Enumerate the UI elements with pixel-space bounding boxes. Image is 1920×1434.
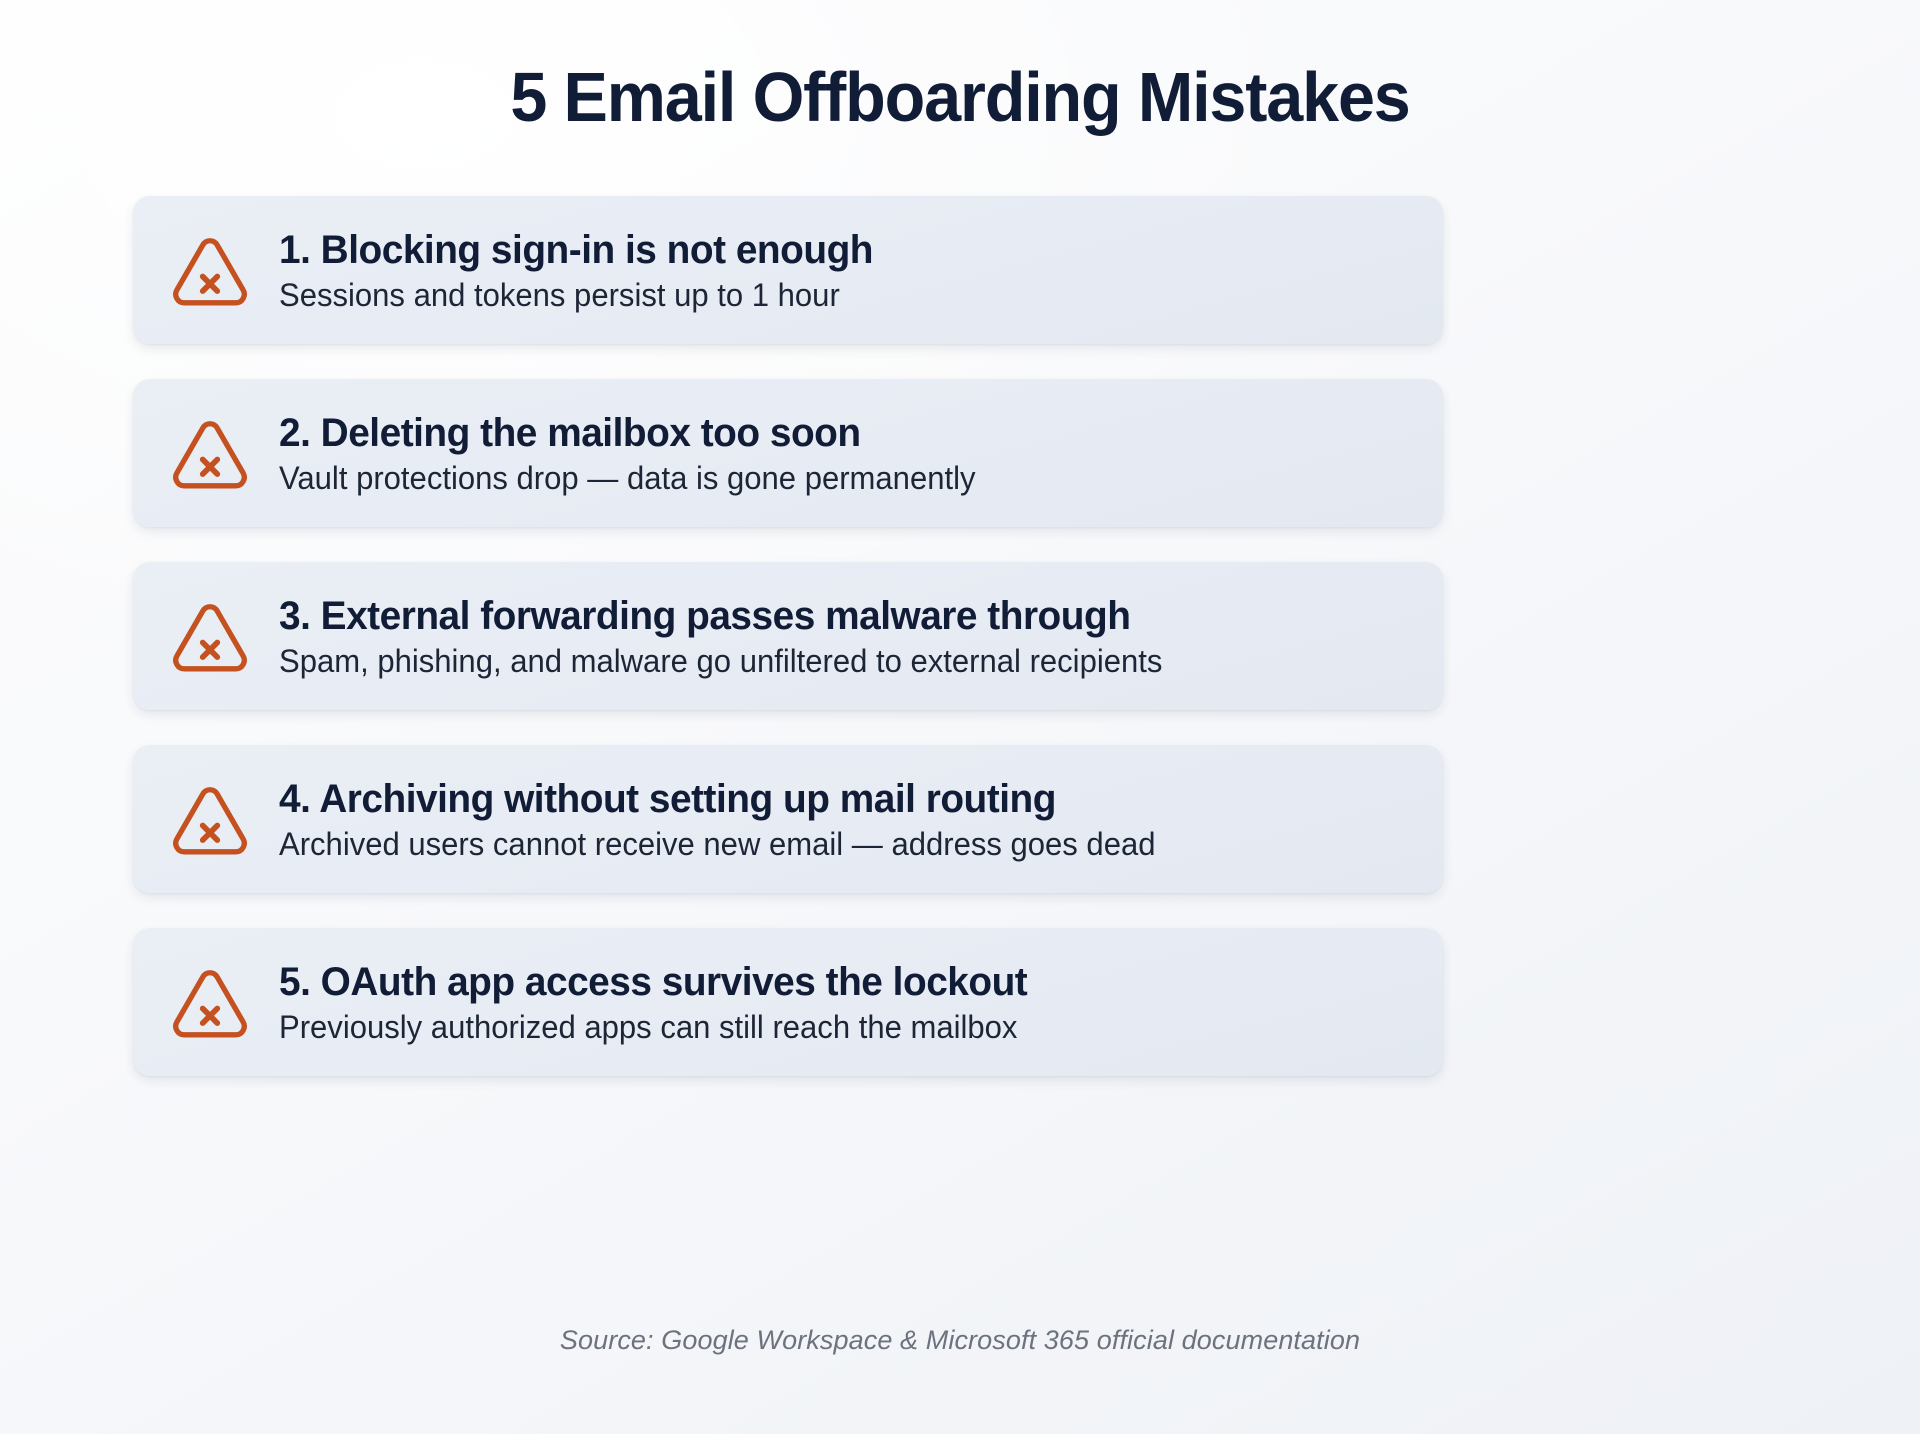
mistake-card-4: 4. Archiving without setting up mail rou… [133,745,1443,893]
mistake-card-2: 2. Deleting the mailbox too soon Vault p… [133,379,1443,527]
warning-triangle-x-icon [167,776,253,862]
mistake-card-text: 5. OAuth app access survives the lockout… [279,958,1413,1047]
mistake-card-text: 2. Deleting the mailbox too soon Vault p… [279,409,1413,498]
mistake-card-subtitle: Vault protections drop — data is gone pe… [279,459,1379,497]
mistake-card-heading: 5. OAuth app access survives the lockout [279,960,1379,1006]
title-container: 5 Email Offboarding Mistakes [0,62,1920,133]
infographic-canvas: 5 Email Offboarding Mistakes 1. Blocking… [0,0,1920,1434]
mistake-card-subtitle: Spam, phishing, and malware go unfiltere… [279,642,1379,680]
mistake-card-3: 3. External forwarding passes malware th… [133,562,1443,710]
source-attribution: Source: Google Workspace & Microsoft 365… [0,1325,1920,1356]
mistake-card-heading: 3. External forwarding passes malware th… [279,594,1379,640]
mistake-card-1: 1. Blocking sign-in is not enough Sessio… [133,196,1443,344]
warning-triangle-x-icon [167,227,253,313]
mistake-card-subtitle: Previously authorized apps can still rea… [279,1008,1379,1046]
warning-triangle-x-icon [167,593,253,679]
mistake-card-subtitle: Sessions and tokens persist up to 1 hour [279,276,1379,314]
mistake-card-heading: 4. Archiving without setting up mail rou… [279,777,1379,823]
mistake-card-list: 1. Blocking sign-in is not enough Sessio… [133,196,1443,1076]
page-title: 5 Email Offboarding Mistakes [48,62,1872,133]
mistake-card-heading: 1. Blocking sign-in is not enough [279,228,1379,274]
mistake-card-text: 4. Archiving without setting up mail rou… [279,775,1413,864]
mistake-card-text: 3. External forwarding passes malware th… [279,592,1413,681]
warning-triangle-x-icon [167,410,253,496]
mistake-card-subtitle: Archived users cannot receive new email … [279,825,1379,863]
mistake-card-text: 1. Blocking sign-in is not enough Sessio… [279,226,1413,315]
mistake-card-heading: 2. Deleting the mailbox too soon [279,411,1379,457]
warning-triangle-x-icon [167,959,253,1045]
mistake-card-5: 5. OAuth app access survives the lockout… [133,928,1443,1076]
